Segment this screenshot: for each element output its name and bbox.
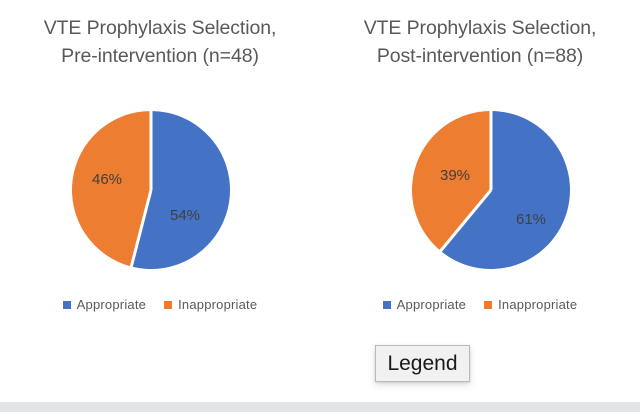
- pie-svg-pre-intervention: [72, 111, 230, 269]
- pie-chart-pre-intervention[interactable]: 54% 46%: [72, 111, 230, 269]
- chart-pre-intervention[interactable]: VTE Prophylaxis Selection, Pre-intervent…: [0, 0, 320, 340]
- legend-label-inappropriate: Inappropriate: [498, 297, 577, 312]
- pie-data-label-appropriate: 61%: [516, 211, 546, 228]
- legend-item-appropriate[interactable]: Appropriate: [383, 297, 466, 312]
- bottom-strip: [0, 402, 640, 412]
- pie-data-label-inappropriate: 39%: [440, 167, 470, 184]
- legend-label-inappropriate: Inappropriate: [178, 297, 257, 312]
- legend-swatch-appropriate-icon: [63, 301, 71, 309]
- legend-label-appropriate: Appropriate: [77, 297, 146, 312]
- pie-data-label-inappropriate: 46%: [92, 171, 122, 188]
- pie-svg-post-intervention: [412, 111, 570, 269]
- legend-item-appropriate[interactable]: Appropriate: [63, 297, 146, 312]
- legend-swatch-inappropriate-icon: [164, 301, 172, 309]
- chart-legend-post-intervention: Appropriate Inappropriate: [320, 297, 640, 312]
- legend-callout-box[interactable]: Legend: [375, 345, 470, 382]
- legend-item-inappropriate[interactable]: Inappropriate: [164, 297, 257, 312]
- legend-callout-label: Legend: [387, 353, 457, 374]
- pie-chart-post-intervention[interactable]: 61% 39%: [412, 111, 570, 269]
- chart-legend-pre-intervention: Appropriate Inappropriate: [0, 297, 320, 312]
- chart-post-intervention[interactable]: VTE Prophylaxis Selection, Post-interven…: [320, 0, 640, 340]
- legend-label-appropriate: Appropriate: [397, 297, 466, 312]
- charts-row: VTE Prophylaxis Selection, Pre-intervent…: [0, 0, 640, 340]
- legend-swatch-appropriate-icon: [383, 301, 391, 309]
- legend-swatch-inappropriate-icon: [484, 301, 492, 309]
- chart-title-pre-intervention: VTE Prophylaxis Selection, Pre-intervent…: [0, 14, 320, 70]
- slide-canvas: VTE Prophylaxis Selection, Pre-intervent…: [0, 0, 640, 412]
- chart-title-post-intervention: VTE Prophylaxis Selection, Post-interven…: [320, 14, 640, 70]
- legend-item-inappropriate[interactable]: Inappropriate: [484, 297, 577, 312]
- pie-data-label-appropriate: 54%: [170, 207, 200, 224]
